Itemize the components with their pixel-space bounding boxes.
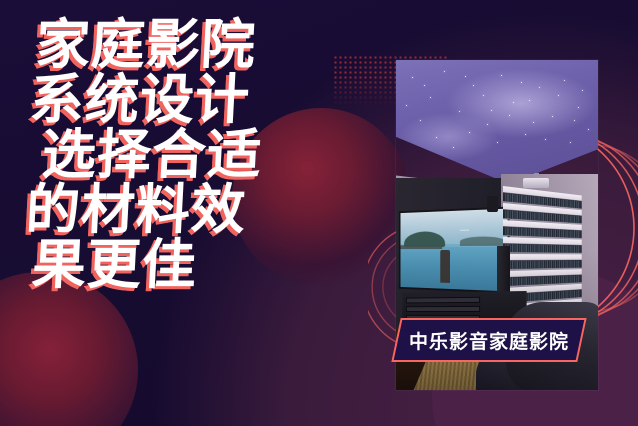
headline-line-5: 果更佳 [31,238,362,293]
headline-line-1: 家庭影院 [35,18,362,73]
caption-badge: 中乐影音家庭影院 [396,318,582,362]
headline-line-4: 的材料效 [25,183,362,238]
headline-line-3: 选择合适 [41,128,362,183]
headline-block: 家庭影院 系统设计 选择合适 的材料效 果更佳 [20,18,360,293]
badge-label: 中乐影音家庭影院 [396,318,582,362]
poster-canvas: 家庭影院 系统设计 选择合适 的材料效 果更佳 [0,0,638,426]
headline-line-2: 系统设计 [29,73,362,128]
